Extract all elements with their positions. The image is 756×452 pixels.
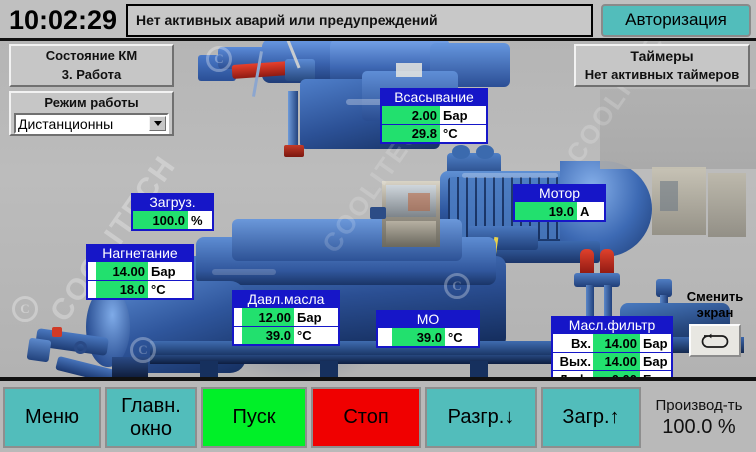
- spacer: [234, 327, 242, 344]
- suction-temperature-unit: °C: [440, 125, 486, 142]
- suction-tag: Всасывание 2.00 Бар 29.8 °C: [380, 88, 488, 144]
- compressor-state-title: Состояние КМ: [46, 47, 137, 66]
- discharge-temperature-row: 18.0 °C: [88, 280, 192, 298]
- mo-temperature-unit: °C: [445, 328, 478, 346]
- process-graphic-area: COOLITECH COOLITECH COOLITECH C C C C Со…: [0, 41, 756, 378]
- spacer: [88, 281, 96, 298]
- load-tag: Загруз. 100.0 %: [131, 193, 214, 231]
- oil-pressure-row: 12.00 Бар: [234, 308, 338, 326]
- main-window-button[interactable]: Главн. окно: [105, 387, 197, 448]
- menu-button[interactable]: Меню: [3, 387, 101, 448]
- compressor-state-value: 3. Работа: [62, 66, 121, 85]
- capacity-label: Производ-ть: [656, 397, 743, 414]
- change-screen-button[interactable]: [689, 324, 741, 357]
- discharge-temperature-unit: °C: [148, 281, 192, 298]
- oil-filter-inlet-value: 14.00: [593, 334, 640, 352]
- change-screen-control: Сменить экран: [679, 289, 751, 357]
- change-screen-label-line2: экран: [679, 305, 751, 321]
- spacer: [234, 308, 242, 326]
- timers-panel: Таймеры Нет активных таймеров: [574, 44, 750, 87]
- load-value: 100.0: [133, 211, 188, 229]
- alarm-status-banner: Нет активных аварий или предупреждений: [126, 4, 593, 37]
- bottom-button-bar: Меню Главн. окно Пуск Стоп Разгр.↓ Загр.…: [0, 381, 756, 452]
- chevron-down-icon[interactable]: [149, 116, 166, 131]
- motor-current-unit: A: [577, 202, 604, 220]
- oil-temperature-row: 39.0 °C: [234, 326, 338, 344]
- compressor-state-panel: Состояние КМ 3. Работа: [9, 44, 174, 87]
- table-row: Вых. 14.00 Бар: [553, 352, 671, 370]
- oil-pressure-value: 12.00: [242, 308, 294, 326]
- oil-filter-tag: Масл.фильтр Вх. 14.00 Бар Вых. 14.00 Бар…: [551, 316, 673, 378]
- suction-pressure-unit: Бар: [440, 106, 486, 124]
- operating-mode-value: Дистанционны: [16, 116, 113, 132]
- discharge-pressure-unit: Бар: [148, 262, 192, 280]
- load-value-row: 100.0 %: [133, 211, 212, 229]
- discharge-temperature-value: 18.0: [96, 281, 148, 298]
- oil-filter-outlet-label: Вых.: [553, 353, 593, 370]
- table-row: Вх. 14.00 Бар: [553, 334, 671, 352]
- operating-mode-select[interactable]: Дистанционны: [14, 113, 169, 134]
- motor-title: Мотор: [513, 184, 606, 202]
- oil-pressure-unit: Бар: [294, 308, 338, 326]
- capacity-value: 100.0 %: [662, 416, 735, 439]
- oil-filter-inlet-unit: Бар: [640, 334, 671, 352]
- load-unit: %: [188, 211, 212, 229]
- motor-current-value: 19.0: [515, 202, 577, 220]
- mo-temperature-row: 39.0 °C: [378, 328, 478, 346]
- timers-value: Нет активных таймеров: [585, 66, 740, 84]
- hmi-screen: 10:02:29 Нет активных аварий или предупр…: [0, 0, 756, 452]
- discharge-tag: Нагнетание 14.00 Бар 18.0 °C: [86, 244, 194, 300]
- clock-display: 10:02:29: [0, 0, 126, 40]
- unload-button[interactable]: Разгр.↓: [425, 387, 537, 448]
- loop-arrow-icon: [698, 331, 732, 351]
- oil-temperature-unit: °C: [294, 327, 338, 344]
- top-status-bar: 10:02:29 Нет активных аварий или предупр…: [0, 0, 756, 40]
- oil-temperature-value: 39.0: [242, 327, 294, 344]
- operating-mode-panel: Режим работы Дистанционны: [9, 91, 174, 136]
- motor-current-row: 19.0 A: [515, 202, 604, 220]
- mo-temperature-value: 39.0: [392, 328, 445, 346]
- suction-temperature-value: 29.8: [382, 125, 440, 142]
- capacity-readout: Производ-ть 100.0 %: [645, 387, 753, 448]
- suction-pressure-row: 2.00 Бар: [382, 106, 486, 124]
- mo-tag: МО 39.0 °C: [376, 310, 480, 348]
- suction-temperature-row: 29.8 °C: [382, 124, 486, 142]
- discharge-pressure-value: 14.00: [96, 262, 148, 280]
- oil-filter-outlet-value: 14.00: [593, 353, 640, 370]
- motor-tag: Мотор 19.0 A: [513, 184, 606, 222]
- oil-filter-inlet-label: Вх.: [553, 334, 593, 352]
- load-up-button[interactable]: Загр.↑: [541, 387, 641, 448]
- oil-filter-title: Масл.фильтр: [551, 316, 673, 334]
- load-title: Загруз.: [131, 193, 214, 211]
- change-screen-label-line1: Сменить: [679, 289, 751, 305]
- operating-mode-label: Режим работы: [11, 94, 172, 112]
- spacer: [378, 328, 392, 346]
- spacer: [88, 262, 96, 280]
- suction-pressure-value: 2.00: [382, 106, 440, 124]
- mo-title: МО: [376, 310, 480, 328]
- discharge-pressure-row: 14.00 Бар: [88, 262, 192, 280]
- oil-pressure-tag: Давл.масла 12.00 Бар 39.0 °C: [232, 290, 340, 346]
- start-button[interactable]: Пуск: [201, 387, 307, 448]
- discharge-title: Нагнетание: [86, 244, 194, 262]
- suction-title: Всасывание: [380, 88, 488, 106]
- authorization-button[interactable]: Авторизация: [601, 4, 751, 37]
- stop-button[interactable]: Стоп: [311, 387, 421, 448]
- oil-filter-outlet-unit: Бар: [640, 353, 671, 370]
- oil-pressure-title: Давл.масла: [232, 290, 340, 308]
- timers-title: Таймеры: [630, 47, 693, 67]
